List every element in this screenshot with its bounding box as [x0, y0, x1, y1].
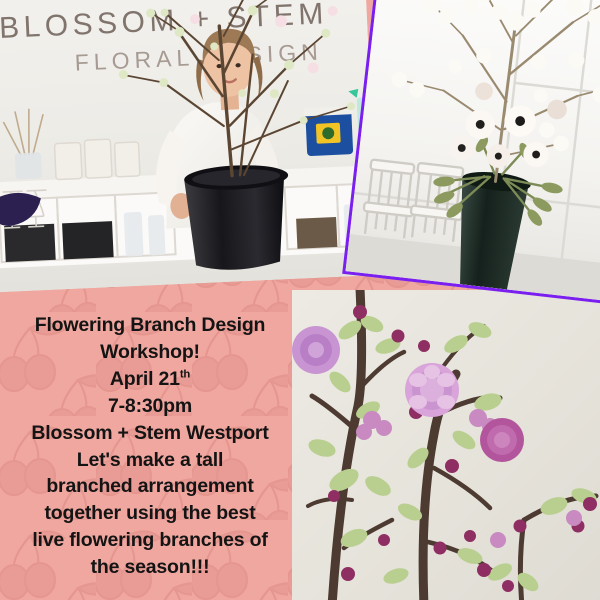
title-line-2: Workshop! [6, 339, 294, 366]
event-date-suffix: th [180, 368, 190, 380]
arrangement-photo [342, 0, 600, 304]
blossom-photo [292, 290, 600, 600]
poster-canvas: BLOSSOM + STEM FLORAL DESIGN [0, 0, 600, 600]
event-time: 7-8:30pm [6, 393, 294, 420]
title-line-1: Flowering Branch Design [6, 312, 294, 339]
body-line-3: together using the best [6, 500, 294, 527]
body-line-5: the season!!! [6, 554, 294, 581]
body-line-1: Let's make a tall [6, 447, 294, 474]
announcement-text: Flowering Branch Design Workshop! April … [0, 312, 300, 581]
event-date: April 21th [6, 366, 294, 393]
event-location: Blossom + Stem Westport [6, 420, 294, 447]
event-date-text: April 21 [110, 368, 180, 390]
body-line-4: live flowering branches of [6, 527, 294, 554]
body-line-2: branched arrangement [6, 473, 294, 500]
workshop-photo: BLOSSOM + STEM FLORAL DESIGN [0, 0, 379, 293]
